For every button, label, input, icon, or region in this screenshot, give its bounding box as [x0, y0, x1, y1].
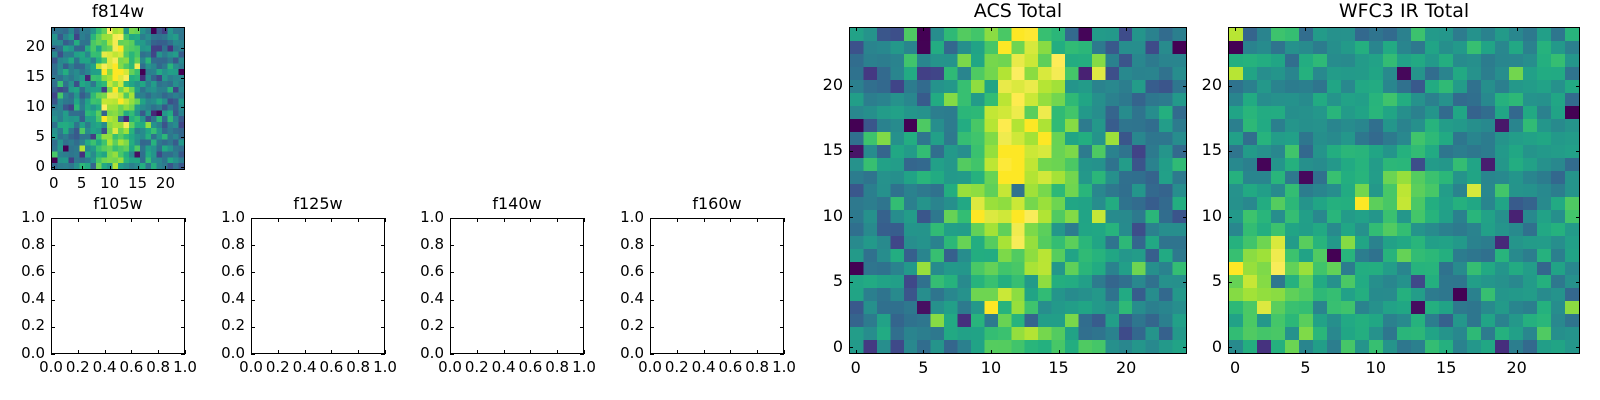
xtick-mark-f814w-3	[138, 166, 139, 170]
xtick-mark-top-f125w-2	[305, 218, 306, 222]
ytick-label-f160w-5: 1.0	[564, 210, 644, 225]
xtick-mark-top-f140w-2	[504, 218, 505, 222]
xtick-mark-top-f105w-2	[105, 218, 106, 222]
ytick-mark-right-f814w-0	[181, 167, 185, 168]
ytick-label-wfc3-ir-total-2: 10	[1142, 208, 1222, 224]
ytick-mark-right-wfc3-ir-total-2	[1576, 217, 1580, 218]
ytick-label-f814w-0: 0	[0, 159, 45, 174]
xtick-mark-f125w-4	[358, 350, 359, 354]
xtick-mark-wfc3-ir-total-1	[1305, 350, 1306, 354]
xtick-mark-top-acs-total-1	[923, 27, 924, 31]
ytick-mark-f125w-3	[251, 272, 255, 273]
ytick-mark-wfc3-ir-total-2	[1228, 217, 1232, 218]
ytick-label-wfc3-ir-total-3: 15	[1142, 142, 1222, 158]
xtick-mark-top-f140w-4	[557, 218, 558, 222]
xtick-mark-top-f140w-3	[530, 218, 531, 222]
ytick-mark-f105w-4	[51, 245, 55, 246]
ytick-mark-f125w-5	[251, 218, 255, 219]
ytick-label-f125w-3: 0.6	[165, 264, 245, 279]
xtick-mark-top-f814w-4	[165, 27, 166, 31]
ytick-mark-f160w-3	[650, 272, 654, 273]
xtick-mark-f125w-2	[305, 350, 306, 354]
xtick-mark-f105w-3	[131, 350, 132, 354]
heatmap-image-f814w	[52, 28, 184, 169]
xtick-mark-top-f105w-3	[131, 218, 132, 222]
plot-area-wfc3-ir-total	[1228, 27, 1580, 354]
ytick-mark-f814w-2	[51, 107, 55, 108]
xtick-mark-f140w-3	[530, 350, 531, 354]
ytick-label-f814w-4: 20	[0, 39, 45, 54]
ytick-label-f125w-5: 1.0	[165, 210, 245, 225]
ytick-mark-wfc3-ir-total-3	[1228, 151, 1232, 152]
xtick-mark-f160w-2	[704, 350, 705, 354]
ytick-mark-f140w-1	[450, 327, 454, 328]
ytick-label-wfc3-ir-total-1: 5	[1142, 273, 1222, 289]
ytick-label-f105w-2: 0.4	[0, 291, 45, 306]
xtick-mark-top-acs-total-0	[856, 27, 857, 31]
xtick-mark-f814w-4	[165, 166, 166, 170]
xtick-label-f160w-5: 1.0	[744, 360, 824, 375]
xtick-mark-top-wfc3-ir-total-2	[1376, 27, 1377, 31]
xtick-label-wfc3-ir-total-3: 15	[1406, 360, 1486, 376]
xtick-mark-f140w-1	[477, 350, 478, 354]
ytick-mark-f814w-3	[51, 78, 55, 79]
ytick-label-f160w-2: 0.4	[564, 291, 644, 306]
xtick-mark-top-f814w-3	[138, 27, 139, 31]
ytick-label-f814w-1: 5	[0, 129, 45, 144]
ytick-mark-f105w-0	[51, 354, 55, 355]
ytick-mark-right-f160w-2	[780, 300, 784, 301]
ytick-mark-acs-total-3	[849, 151, 853, 152]
ytick-mark-wfc3-ir-total-0	[1228, 347, 1232, 348]
ytick-label-f125w-4: 0.8	[165, 237, 245, 252]
xtick-mark-f814w-1	[82, 166, 83, 170]
ytick-mark-right-wfc3-ir-total-0	[1576, 347, 1580, 348]
ytick-label-f140w-3: 0.6	[364, 264, 444, 279]
xtick-label-f814w-4: 20	[125, 176, 205, 191]
ytick-label-f140w-4: 0.8	[364, 237, 444, 252]
ytick-mark-acs-total-2	[849, 217, 853, 218]
xtick-mark-top-f160w-3	[730, 218, 731, 222]
xtick-mark-top-f814w-2	[110, 27, 111, 31]
xtick-mark-top-f160w-2	[704, 218, 705, 222]
xtick-label-wfc3-ir-total-2: 10	[1336, 360, 1416, 376]
ytick-mark-f814w-0	[51, 167, 55, 168]
ytick-mark-f814w-4	[51, 48, 55, 49]
xtick-mark-top-f160w-1	[677, 218, 678, 222]
xtick-mark-top-acs-total-4	[1126, 27, 1127, 31]
heatmap-image-acs-total	[850, 28, 1186, 353]
ytick-label-f814w-2: 10	[0, 99, 45, 114]
ytick-label-f140w-1: 0.2	[364, 318, 444, 333]
ytick-label-f125w-2: 0.4	[165, 291, 245, 306]
ytick-mark-right-f814w-1	[181, 137, 185, 138]
xtick-mark-f814w-2	[110, 166, 111, 170]
ytick-mark-f125w-2	[251, 300, 255, 301]
ytick-label-f105w-0: 0.0	[0, 346, 45, 361]
xtick-mark-wfc3-ir-total-2	[1376, 350, 1377, 354]
ytick-mark-f160w-2	[650, 300, 654, 301]
xtick-mark-f105w-1	[78, 350, 79, 354]
ytick-mark-f125w-0	[251, 354, 255, 355]
ytick-mark-f125w-1	[251, 327, 255, 328]
xtick-mark-top-wfc3-ir-total-3	[1446, 27, 1447, 31]
panel-title-f814w: f814w	[51, 2, 185, 22]
ytick-label-acs-total-4: 20	[763, 77, 843, 93]
xtick-mark-f105w-4	[158, 350, 159, 354]
xtick-mark-top-f125w-3	[331, 218, 332, 222]
xtick-label-acs-total-4: 20	[1086, 360, 1166, 376]
ytick-mark-f140w-2	[450, 300, 454, 301]
xtick-mark-f140w-2	[504, 350, 505, 354]
panel-title-acs-total: ACS Total	[849, 0, 1187, 22]
ytick-label-f105w-5: 1.0	[0, 210, 45, 225]
ytick-mark-f105w-5	[51, 218, 55, 219]
xtick-mark-top-acs-total-2	[991, 27, 992, 31]
ytick-mark-f105w-3	[51, 272, 55, 273]
xtick-mark-f160w-1	[677, 350, 678, 354]
xtick-mark-top-f814w-1	[82, 27, 83, 31]
xtick-mark-f125w-3	[331, 350, 332, 354]
ytick-label-acs-total-1: 5	[763, 273, 843, 289]
xtick-mark-top-wfc3-ir-total-1	[1305, 27, 1306, 31]
ytick-mark-acs-total-1	[849, 282, 853, 283]
xtick-mark-f105w-2	[105, 350, 106, 354]
ytick-label-f105w-1: 0.2	[0, 318, 45, 333]
ytick-label-f160w-4: 0.8	[564, 237, 644, 252]
ytick-mark-f140w-4	[450, 245, 454, 246]
ytick-mark-f140w-0	[450, 354, 454, 355]
xtick-mark-top-f814w-0	[54, 27, 55, 31]
xtick-mark-top-f125w-1	[278, 218, 279, 222]
ytick-mark-f160w-5	[650, 218, 654, 219]
xtick-label-wfc3-ir-total-0: 0	[1195, 360, 1275, 376]
matplotlib-figure: f814w0510152005101520f105w0.00.20.40.60.…	[0, 0, 1600, 400]
xtick-mark-acs-total-0	[856, 350, 857, 354]
xtick-mark-top-f105w-4	[158, 218, 159, 222]
xtick-mark-wfc3-ir-total-0	[1235, 350, 1236, 354]
xtick-mark-top-wfc3-ir-total-0	[1235, 27, 1236, 31]
ytick-label-acs-total-0: 0	[763, 339, 843, 355]
ytick-label-wfc3-ir-total-4: 20	[1142, 77, 1222, 93]
ytick-mark-f125w-4	[251, 245, 255, 246]
ytick-mark-f140w-5	[450, 218, 454, 219]
ytick-mark-f814w-1	[51, 137, 55, 138]
ytick-mark-right-wfc3-ir-total-1	[1576, 282, 1580, 283]
plot-area-acs-total	[849, 27, 1187, 354]
ytick-label-f105w-3: 0.6	[0, 264, 45, 279]
ytick-mark-right-f160w-1	[780, 327, 784, 328]
xtick-mark-f140w-4	[557, 350, 558, 354]
ytick-mark-acs-total-0	[849, 347, 853, 348]
ytick-mark-right-f160w-4	[780, 245, 784, 246]
ytick-mark-right-f814w-3	[181, 78, 185, 79]
xtick-mark-top-f160w-4	[757, 218, 758, 222]
xtick-mark-f160w-3	[730, 350, 731, 354]
ytick-mark-f105w-1	[51, 327, 55, 328]
xtick-mark-acs-total-2	[991, 350, 992, 354]
ytick-label-f140w-0: 0.0	[364, 346, 444, 361]
ytick-mark-f160w-4	[650, 245, 654, 246]
ytick-mark-f105w-2	[51, 300, 55, 301]
ytick-label-f125w-1: 0.2	[165, 318, 245, 333]
ytick-label-wfc3-ir-total-0: 0	[1142, 339, 1222, 355]
xtick-mark-top-f125w-4	[358, 218, 359, 222]
ytick-label-f160w-0: 0.0	[564, 346, 644, 361]
ytick-mark-wfc3-ir-total-1	[1228, 282, 1232, 283]
ytick-label-f160w-3: 0.6	[564, 264, 644, 279]
xtick-label-wfc3-ir-total-1: 5	[1265, 360, 1345, 376]
ytick-mark-right-f814w-4	[181, 48, 185, 49]
panel-title-wfc3-ir-total: WFC3 IR Total	[1228, 0, 1580, 22]
xtick-mark-top-f140w-1	[477, 218, 478, 222]
ytick-mark-wfc3-ir-total-4	[1228, 86, 1232, 87]
ytick-mark-right-wfc3-ir-total-3	[1576, 151, 1580, 152]
ytick-mark-right-wfc3-ir-total-4	[1576, 86, 1580, 87]
xtick-mark-wfc3-ir-total-4	[1517, 350, 1518, 354]
ytick-label-f814w-3: 15	[0, 69, 45, 84]
ytick-mark-f140w-3	[450, 272, 454, 273]
ytick-label-f160w-1: 0.2	[564, 318, 644, 333]
ytick-label-acs-total-3: 15	[763, 142, 843, 158]
xtick-mark-acs-total-4	[1126, 350, 1127, 354]
ytick-label-f140w-2: 0.4	[364, 291, 444, 306]
xtick-mark-f125w-1	[278, 350, 279, 354]
ytick-label-acs-total-2: 10	[763, 208, 843, 224]
ytick-mark-acs-total-4	[849, 86, 853, 87]
ytick-mark-right-f814w-2	[181, 107, 185, 108]
ytick-mark-f160w-0	[650, 354, 654, 355]
heatmap-image-wfc3-ir-total	[1229, 28, 1579, 353]
xtick-mark-top-acs-total-3	[1059, 27, 1060, 31]
xtick-mark-f160w-4	[757, 350, 758, 354]
ytick-label-f140w-5: 1.0	[364, 210, 444, 225]
xtick-mark-acs-total-3	[1059, 350, 1060, 354]
xtick-mark-top-wfc3-ir-total-4	[1517, 27, 1518, 31]
plot-area-f814w	[51, 27, 185, 170]
xtick-mark-wfc3-ir-total-3	[1446, 350, 1447, 354]
ytick-label-f125w-0: 0.0	[165, 346, 245, 361]
xtick-mark-top-f105w-1	[78, 218, 79, 222]
xtick-label-wfc3-ir-total-4: 20	[1477, 360, 1557, 376]
ytick-mark-f160w-1	[650, 327, 654, 328]
xtick-mark-acs-total-1	[923, 350, 924, 354]
ytick-label-f105w-4: 0.8	[0, 237, 45, 252]
